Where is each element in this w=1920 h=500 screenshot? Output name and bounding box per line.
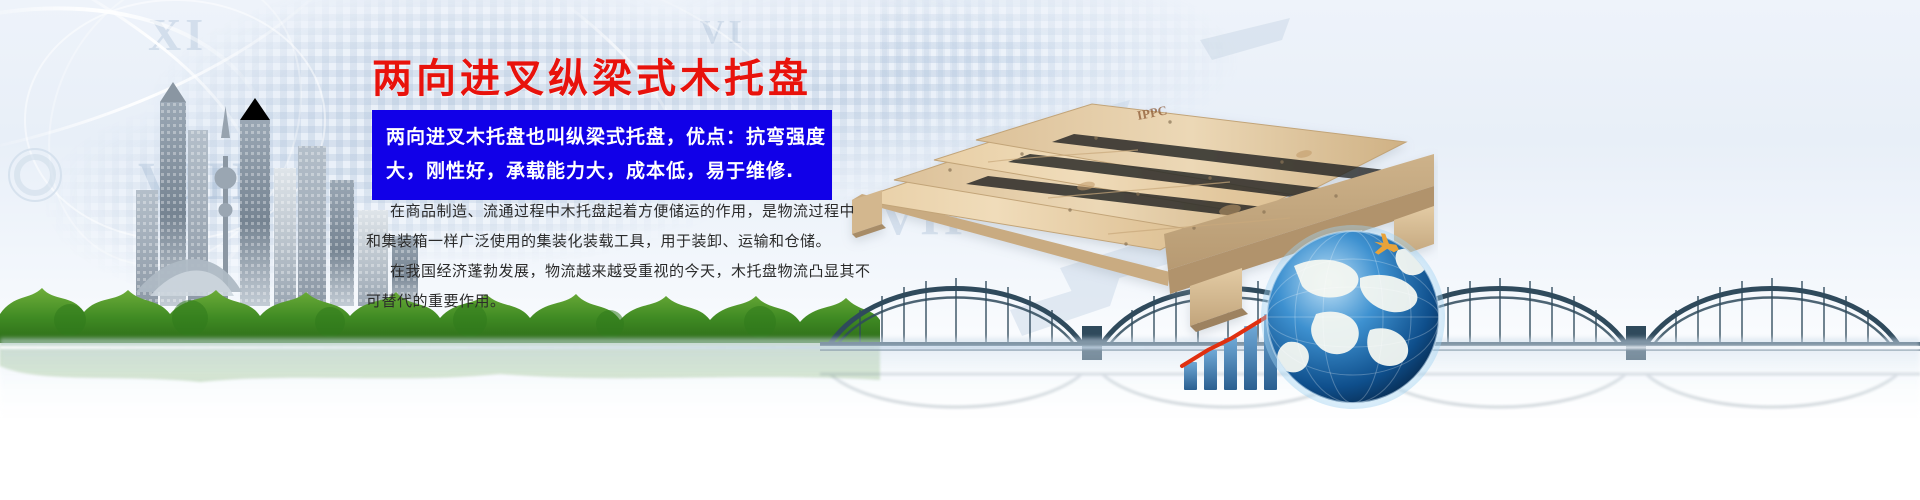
product-banner: XI VIII VII VI (0, 0, 1920, 500)
highlight-line-1: 两向进叉木托盘也叫纵梁式托盘，优点：抗弯强度 (386, 120, 820, 154)
page-title: 两向进叉纵梁式木托盘 (372, 55, 812, 103)
earth-globe-graphic (1258, 222, 1448, 412)
highlight-box: 两向进叉木托盘也叫纵梁式托盘，优点：抗弯强度 大，刚性好，承载能力大，成本低，易… (372, 110, 832, 200)
body-paragraph-line-4: 可替代的重要作用。 (366, 286, 846, 316)
body-copy: 在商品制造、流通过程中木托盘起着方便储运的作用，是物流过程中 和集装箱一样广泛使… (366, 196, 846, 316)
highlight-line-2: 大，刚性好，承载能力大，成本低，易于维修. (386, 154, 820, 188)
body-paragraph-line-1: 在商品制造、流通过程中木托盘起着方便储运的作用，是物流过程中 (366, 196, 846, 226)
body-paragraph-line-2: 和集装箱一样广泛使用的集装化装载工具，用于装卸、运输和仓储。 (366, 226, 846, 256)
body-paragraph-line-3: 在我国经济蓬勃发展，物流越来越受重视的今天，木托盘物流凸显其不 (366, 256, 846, 286)
